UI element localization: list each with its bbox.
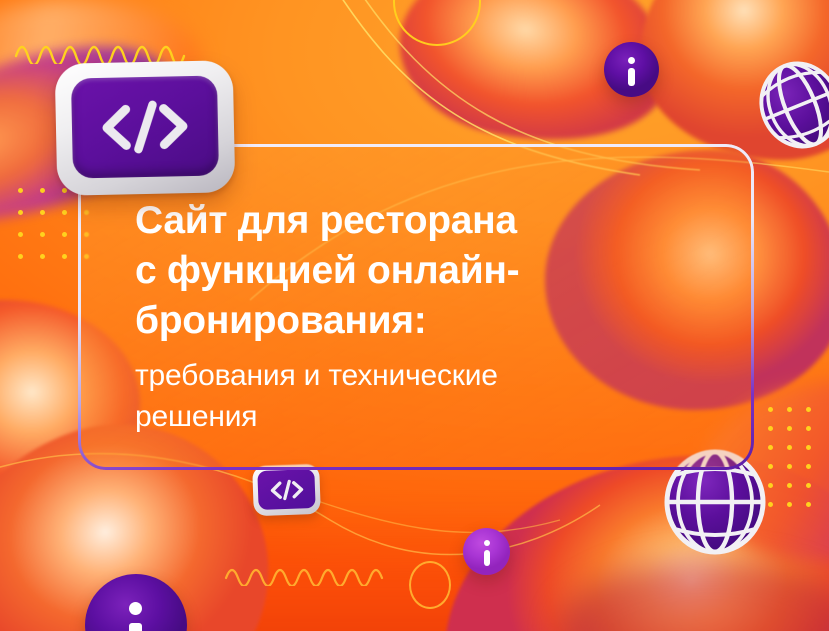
code-tag-badge-panel — [71, 75, 219, 178]
info-badge-stem — [628, 68, 635, 86]
info-badge-dot — [484, 540, 490, 546]
page-subtitle: требования и технические решения — [135, 355, 695, 438]
globe-top-right-icon — [757, 57, 829, 153]
squiggle-bottom-center — [224, 560, 390, 586]
info-badge-dot — [628, 57, 635, 64]
info-badge-dot — [129, 602, 142, 615]
info-badge-stem — [129, 623, 142, 631]
promo-poster: Сайт для ресторана с функцией онлайн- бр… — [0, 0, 829, 631]
code-tag-badge — [55, 60, 236, 196]
code-icon-small — [266, 477, 307, 502]
code-tag-badge-small-panel — [257, 469, 315, 510]
ring-outline-bottom — [409, 561, 451, 609]
info-badge-bottom-center — [463, 528, 510, 575]
info-badge-top-right — [604, 42, 659, 97]
code-tag-badge-small — [252, 464, 321, 516]
squiggle-top-left — [14, 36, 192, 64]
headline-card-text: Сайт для ресторана с функцией онлайн- бр… — [135, 196, 695, 438]
code-icon — [94, 95, 195, 159]
page-title: Сайт для ресторана с функцией онлайн- бр… — [135, 196, 695, 346]
info-badge-stem — [484, 550, 490, 566]
